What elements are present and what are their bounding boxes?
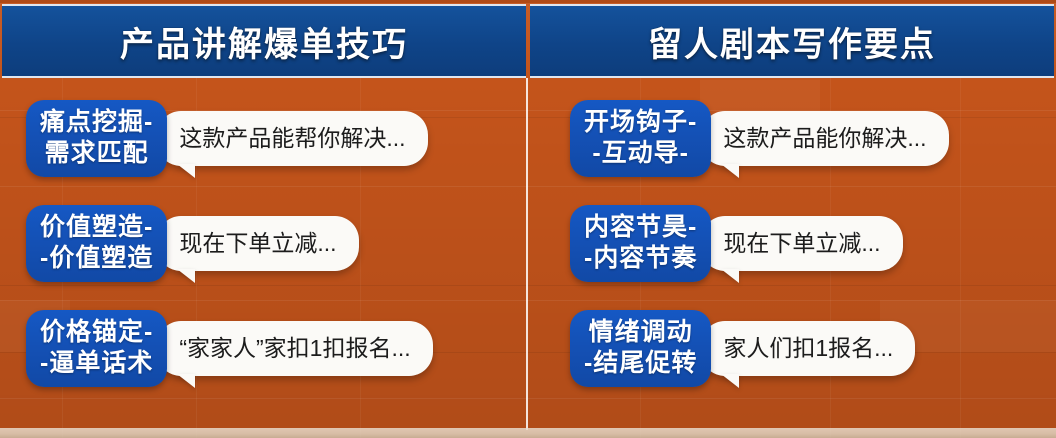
- speech-bubble[interactable]: 这款产品能你解决...: [701, 111, 948, 167]
- step-label-line2: -逼单话术: [40, 348, 153, 379]
- step-label-line2: -价值塑造: [40, 243, 153, 274]
- header-banner-left: 产品讲解爆单技巧: [2, 4, 526, 78]
- columns-container: 痛点挖掘- 需求匹配 这款产品能帮你解决... 价值塑造- -价值塑造: [0, 78, 1056, 438]
- speech-bubble-wrap: 现在下单立减...: [701, 216, 902, 272]
- list-item[interactable]: 痛点挖掘- 需求匹配 这款产品能帮你解决...: [0, 86, 528, 191]
- speech-bubble-wrap: 这款产品能你解决...: [701, 111, 948, 167]
- speech-bubble-text: 这款产品能帮你解决...: [179, 124, 405, 153]
- top-rule: [0, 0, 1056, 3]
- speech-bubble-text: 家人们扣1报名...: [723, 334, 893, 363]
- row-list-left: 痛点挖掘- 需求匹配 这款产品能帮你解决... 价值塑造- -价值塑造: [0, 78, 528, 438]
- speech-bubble-wrap: 家人们扣1报名...: [701, 321, 915, 377]
- bottom-strip: [0, 428, 1056, 438]
- speech-bubble[interactable]: 这款产品能帮你解决...: [157, 111, 427, 167]
- step-label-line2: -互动导-: [584, 138, 697, 169]
- speech-bubble[interactable]: 现在下单立减...: [701, 216, 902, 272]
- step-label-line1: 情绪调动: [584, 317, 697, 348]
- row-list-right: 开场钩子- -互动导- 这款产品能你解决... 内容节昊- -内容节奏: [528, 78, 1056, 438]
- list-item[interactable]: 内容节昊- -内容节奏 现在下单立减...: [528, 191, 1056, 296]
- step-label-badge[interactable]: 价格锚定- -逼单话术: [26, 310, 167, 387]
- column-right: 开场钩子- -互动导- 这款产品能你解决... 内容节昊- -内容节奏: [528, 78, 1056, 438]
- list-item[interactable]: 开场钩子- -互动导- 这款产品能你解决...: [528, 86, 1056, 191]
- step-label-line1: 痛点挖掘-: [40, 107, 153, 138]
- header-banner-right: 留人剧本写作要点: [530, 4, 1054, 78]
- step-label-line1: 开场钩子-: [584, 107, 697, 138]
- speech-bubble[interactable]: 家人们扣1报名...: [701, 321, 915, 377]
- step-label-line2: -结尾促转: [584, 348, 697, 379]
- step-label-line1: 价值塑造-: [40, 212, 153, 243]
- page-title-left: 产品讲解爆单技巧: [120, 17, 408, 66]
- page-title-right: 留人剧本写作要点: [648, 17, 936, 66]
- step-label-badge[interactable]: 痛点挖掘- 需求匹配: [26, 100, 167, 177]
- speech-bubble-wrap: 这款产品能帮你解决...: [157, 111, 427, 167]
- step-label-badge[interactable]: 情绪调动 -结尾促转: [570, 310, 711, 387]
- step-label-badge[interactable]: 内容节昊- -内容节奏: [570, 205, 711, 282]
- step-label-line1: 价格锚定-: [40, 317, 153, 348]
- speech-bubble-text: “家家人”家扣1扣报名...: [179, 334, 410, 363]
- speech-bubble[interactable]: 现在下单立减...: [157, 216, 358, 272]
- speech-bubble-wrap: “家家人”家扣1扣报名...: [157, 321, 432, 377]
- slide-canvas: 产品讲解爆单技巧 留人剧本写作要点 痛点挖掘- 需求匹配 这款产品能帮你解决..…: [0, 0, 1056, 438]
- step-label-badge[interactable]: 价值塑造- -价值塑造: [26, 205, 167, 282]
- speech-bubble-text: 现在下单立减...: [723, 229, 880, 258]
- speech-bubble-text: 这款产品能你解决...: [723, 124, 926, 153]
- list-item[interactable]: 情绪调动 -结尾促转 家人们扣1报名...: [528, 296, 1056, 401]
- speech-bubble-wrap: 现在下单立减...: [157, 216, 358, 272]
- column-left: 痛点挖掘- 需求匹配 这款产品能帮你解决... 价值塑造- -价值塑造: [0, 78, 528, 438]
- step-label-line1: 内容节昊-: [584, 212, 697, 243]
- step-label-line2: -内容节奏: [584, 243, 697, 274]
- header-row: 产品讲解爆单技巧 留人剧本写作要点: [0, 4, 1056, 74]
- speech-bubble[interactable]: “家家人”家扣1扣报名...: [157, 321, 432, 377]
- list-item[interactable]: 价值塑造- -价值塑造 现在下单立减...: [0, 191, 528, 296]
- speech-bubble-text: 现在下单立减...: [179, 229, 336, 258]
- list-item[interactable]: 价格锚定- -逼单话术 “家家人”家扣1扣报名...: [0, 296, 528, 401]
- step-label-line2: 需求匹配: [40, 138, 153, 169]
- step-label-badge[interactable]: 开场钩子- -互动导-: [570, 100, 711, 177]
